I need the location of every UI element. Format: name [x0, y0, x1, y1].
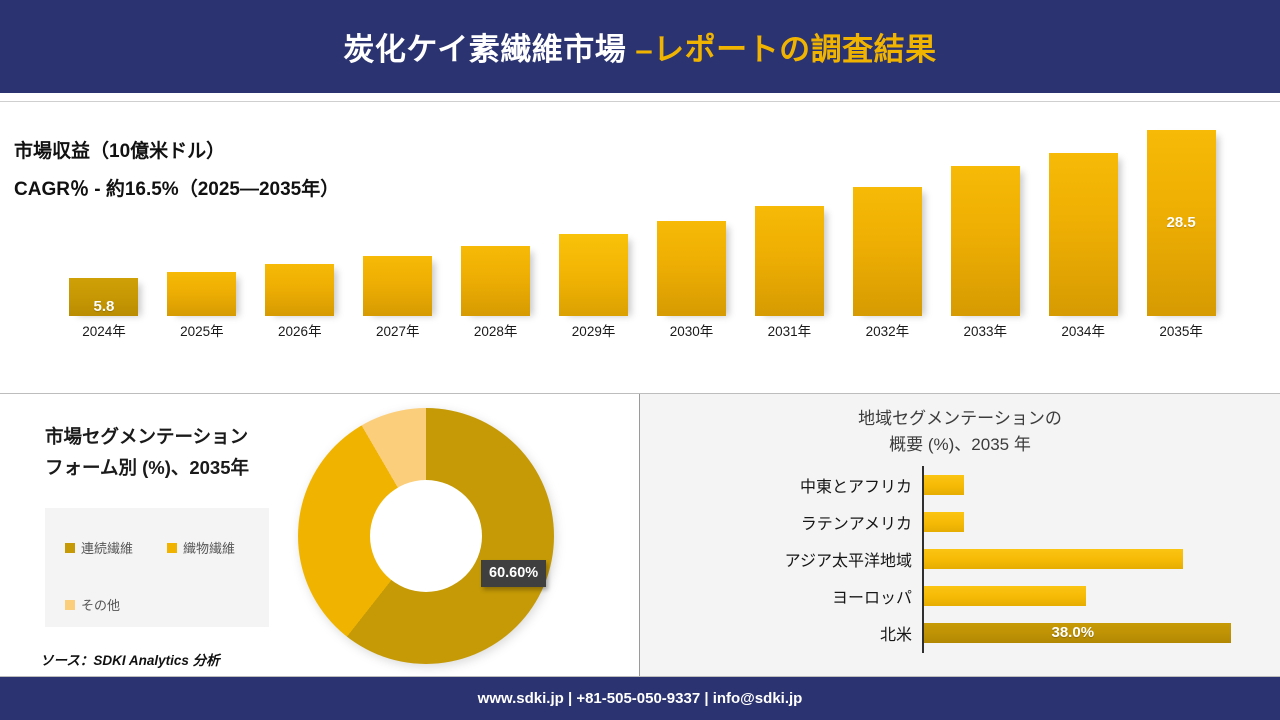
revenue-bar-cell: [153, 272, 251, 316]
revenue-bar: [363, 256, 432, 316]
region-bar-value-label: 38.0%: [1052, 624, 1095, 641]
revenue-xaxis-label: 2025年: [153, 320, 251, 350]
header-banner: 炭化ケイ素繊維市場 –レポートの調査結果: [0, 0, 1280, 93]
region-category-label: ヨーロッパ: [640, 584, 912, 608]
legend-item-continuous-fiber: 連続繊維: [65, 538, 133, 557]
region-bar-row: 中東とアフリカ: [640, 466, 1280, 503]
legend-swatch-icon: [65, 600, 75, 610]
revenue-xaxis-labels: 2024年2025年2026年2027年2028年2029年2030年2031年…: [55, 320, 1230, 350]
revenue-bar: [167, 272, 236, 316]
region-bar-row: ラテンアメリカ: [640, 503, 1280, 540]
revenue-bar-cell: [447, 246, 545, 316]
revenue-bar-cell: [545, 234, 643, 316]
revenue-bar-cell: [1034, 153, 1132, 316]
form-segmentation-title: 市場セグメンテーション フォーム別 (%)、2035年: [45, 421, 249, 483]
revenue-plot-area: 5.828.5 2024年2025年2026年2027年2028年2029年20…: [55, 122, 1230, 354]
revenue-column-chart-panel: 市場収益（10億米ドル） CAGR％ - 約16.5%（2025―2035年） …: [0, 102, 1280, 392]
region-title-line2: 概要 (%)、2035 年: [640, 432, 1280, 458]
region-bar-row: 北米38.0%: [640, 614, 1280, 651]
revenue-bar: [657, 221, 726, 316]
region-bar-row: アジア太平洋地域: [640, 540, 1280, 577]
revenue-bar-cell: [838, 187, 936, 316]
region-plot-area: 中東とアフリカラテンアメリカアジア太平洋地域ヨーロッパ北米38.0%: [640, 466, 1280, 666]
legend-item-woven-fiber: 織物繊維: [167, 538, 235, 557]
revenue-bar: [951, 166, 1020, 316]
region-category-label: 北米: [640, 621, 912, 645]
legend-swatch-icon: [167, 543, 177, 553]
revenue-xaxis-label: 2026年: [251, 320, 349, 350]
revenue-bar-cell: [349, 256, 447, 316]
form-segmentation-title-line1: 市場セグメンテーション: [45, 421, 249, 452]
region-segmentation-title: 地域セグメンテーションの 概要 (%)、2035 年: [640, 406, 1280, 458]
legend-label: 連続繊維: [81, 538, 133, 557]
region-title-line1: 地域セグメンテーションの: [640, 406, 1280, 432]
region-bars-group: 中東とアフリカラテンアメリカアジア太平洋地域ヨーロッパ北米38.0%: [640, 466, 1280, 653]
footer-banner: www.sdki.jp | +81-505-050-9337 | info@sd…: [0, 677, 1280, 720]
legend-swatch-icon: [65, 543, 75, 553]
revenue-xaxis-label: 2024年: [55, 320, 153, 350]
region-segmentation-panel: 地域セグメンテーションの 概要 (%)、2035 年 中東とアフリカラテンアメリ…: [640, 394, 1280, 677]
revenue-bar: [265, 264, 334, 316]
infographic-page: 炭化ケイ素繊維市場 –レポートの調査結果 市場収益（10億米ドル） CAGR％ …: [0, 0, 1280, 720]
form-segmentation-title-line2: フォーム別 (%)、2035年: [45, 452, 249, 483]
region-bar: [924, 512, 964, 532]
revenue-xaxis-label: 2035年: [1132, 320, 1230, 350]
donut-hole: [370, 480, 482, 592]
revenue-bar-cell: [643, 221, 741, 316]
donut-chart: 60.60%: [298, 408, 558, 668]
revenue-xaxis-label: 2029年: [545, 320, 643, 350]
revenue-bar: [853, 187, 922, 316]
region-category-label: ラテンアメリカ: [640, 510, 912, 534]
page-title: 炭化ケイ素繊維市場 –レポートの調査結果: [343, 24, 936, 69]
page-title-main: 炭化ケイ素繊維市場: [343, 32, 635, 67]
page-title-accent: –レポートの調査結果: [635, 32, 936, 67]
source-note: ソース：SDKI Analytics 分析: [40, 649, 220, 669]
revenue-bar-cell: 28.5: [1132, 130, 1230, 316]
revenue-bar: 5.8: [69, 278, 138, 316]
revenue-bar: [755, 206, 824, 316]
revenue-xaxis-label: 2034年: [1034, 320, 1132, 350]
revenue-bar-cell: [251, 264, 349, 316]
revenue-xaxis-label: 2030年: [643, 320, 741, 350]
revenue-bar-value-label: 5.8: [69, 298, 138, 315]
revenue-xaxis-label: 2031年: [740, 320, 838, 350]
footer-contact-text: www.sdki.jp | +81-505-050-9337 | info@sd…: [478, 690, 803, 707]
revenue-xaxis-label: 2033年: [936, 320, 1034, 350]
revenue-xaxis-label: 2032年: [838, 320, 936, 350]
legend-label: その他: [81, 595, 120, 614]
legend-item-others: その他: [65, 595, 120, 614]
region-bar: [924, 549, 1183, 569]
revenue-bar-cell: [740, 206, 838, 316]
region-category-label: 中東とアフリカ: [640, 473, 912, 497]
revenue-bar: [461, 246, 530, 316]
revenue-bar-value-label: 28.5: [1147, 214, 1216, 231]
revenue-xaxis-label: 2027年: [349, 320, 447, 350]
form-segmentation-panel: 市場セグメンテーション フォーム別 (%)、2035年 連続繊維 織物繊維 その…: [0, 394, 639, 677]
revenue-bar-cell: 5.8: [55, 278, 153, 316]
revenue-bar: 28.5: [1147, 130, 1216, 316]
legend-label: 織物繊維: [183, 538, 235, 557]
region-category-label: アジア太平洋地域: [640, 547, 912, 571]
region-bar: [924, 586, 1086, 606]
region-bar-row: ヨーロッパ: [640, 577, 1280, 614]
revenue-bar: [559, 234, 628, 316]
donut-callout-label: 60.60%: [481, 560, 546, 587]
revenue-xaxis-label: 2028年: [447, 320, 545, 350]
donut-legend: 連続繊維 織物繊維 その他: [45, 508, 269, 627]
region-bar: [924, 475, 964, 495]
revenue-bar-cell: [936, 166, 1034, 316]
revenue-bars-group: 5.828.5: [55, 116, 1230, 316]
revenue-bar: [1049, 153, 1118, 316]
